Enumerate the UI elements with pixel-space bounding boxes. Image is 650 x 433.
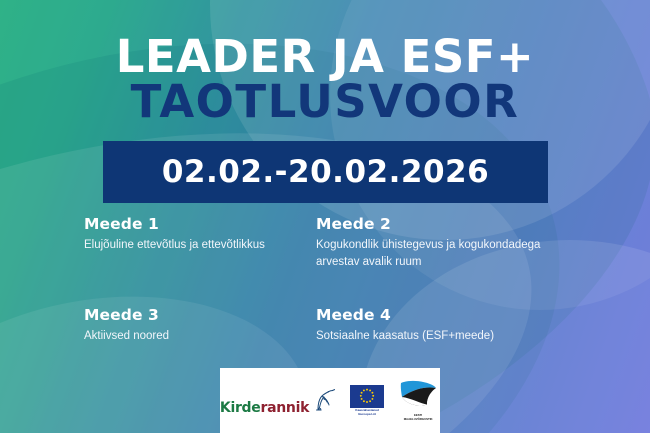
eu-flag-icon	[350, 385, 384, 408]
estonia-logo: EESTI MAAELUVÕRGUSTIK	[396, 379, 440, 421]
measure-title: Meede 2	[316, 215, 584, 233]
date-banner: 02.02.-20.02.2026	[103, 141, 548, 203]
measure-item: Meede 3 Aktiivsed noored	[84, 306, 316, 345]
measure-title: Meede 1	[84, 215, 316, 233]
measure-item: Meede 2 Kogukondlik ühistegevus ja koguk…	[316, 215, 584, 270]
measure-description: Aktiivsed noored	[84, 328, 316, 345]
measures-grid: Meede 1 Elujõuline ettevõtlus ja ettevõt…	[84, 215, 584, 345]
measure-title: Meede 3	[84, 306, 316, 324]
measure-description: Elujõuline ettevõtlus ja ettevõtlikkus	[84, 237, 316, 254]
headline-line-secondary: TAOTLUSVOOR	[0, 81, 650, 124]
kirderannik-name-part-1: Kirde	[220, 401, 261, 415]
eu-caption-line-2: Euroopa Liit	[347, 413, 387, 417]
eu-logo-caption: Kaasrahastanud Euroopa Liit	[347, 409, 387, 417]
eu-logo: Kaasrahastanud Euroopa Liit	[347, 385, 387, 417]
date-range-text: 02.02.-20.02.2026	[162, 154, 489, 190]
measure-item: Meede 1 Elujõuline ettevõtlus ja ettevõt…	[84, 215, 316, 270]
logo-bar: Kirderannik	[220, 368, 440, 433]
kirderannik-name-part-2: rannik	[260, 401, 309, 415]
page-title: LEADER JA ESF+ TAOTLUSVOOR	[0, 36, 650, 124]
kirderannik-logo: Kirderannik	[220, 386, 338, 415]
measure-description: Kogukondlik ühistegevus ja kogukondadega…	[316, 237, 566, 270]
measure-title: Meede 4	[316, 306, 584, 324]
estonia-logo-caption: EESTI MAAELUVÕRGUSTIK	[396, 414, 440, 421]
measure-description: Sotsiaalne kaasatus (ESF+meede)	[316, 328, 566, 345]
estonia-caption-line-2: MAAELUVÕRGUSTIK	[396, 418, 440, 422]
estonia-swallow-icon	[397, 379, 439, 412]
crane-bird-icon	[310, 386, 336, 417]
poster-canvas: LEADER JA ESF+ TAOTLUSVOOR 02.02.-20.02.…	[0, 0, 650, 433]
headline-line-primary: LEADER JA ESF+	[0, 36, 650, 79]
measure-item: Meede 4 Sotsiaalne kaasatus (ESF+meede)	[316, 306, 584, 345]
